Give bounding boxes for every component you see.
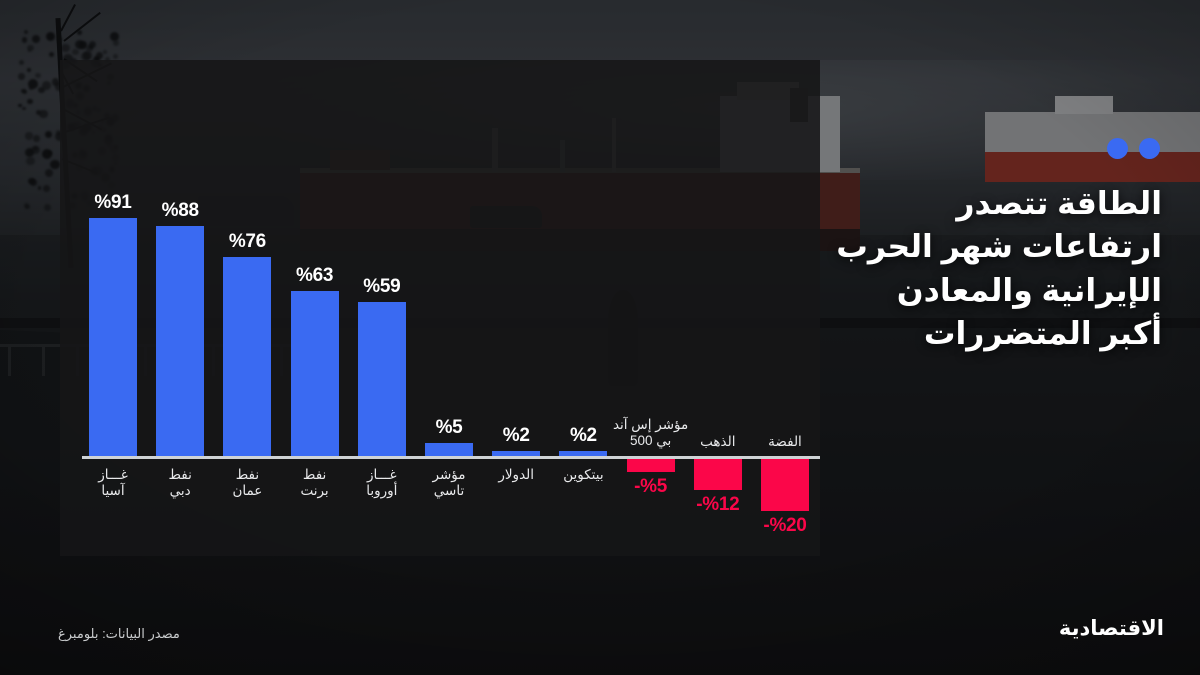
- bar: [89, 218, 137, 456]
- bar: [492, 451, 540, 456]
- publisher-logo: الاقتصادية: [1059, 616, 1164, 641]
- accent-dots: [1107, 138, 1160, 159]
- page-title: الطاقة تتصدر ارتفاعات شهر الحرب الإيراني…: [832, 182, 1162, 356]
- bar: [627, 459, 675, 472]
- bar-value-label: %88: [126, 200, 234, 222]
- bar: [694, 459, 742, 490]
- bar-value-label: %76: [193, 231, 301, 253]
- accent-dot: [1139, 138, 1160, 159]
- bar: [156, 226, 204, 456]
- bar-value-label: %20-: [731, 515, 839, 537]
- bar: [761, 459, 809, 511]
- bar-chart: %91غـــاز آسيا%88نفط دبي%76نفط عمان%63نف…: [60, 60, 820, 556]
- category-label: الفضة: [733, 434, 837, 450]
- bar: [291, 291, 339, 456]
- bar: [559, 451, 607, 456]
- data-source-note: مصدر البيانات: بلومبرغ: [58, 626, 180, 642]
- accent-dot: [1107, 138, 1128, 159]
- bar-value-label: %12-: [664, 494, 772, 516]
- bar-value-label: %59: [328, 276, 436, 298]
